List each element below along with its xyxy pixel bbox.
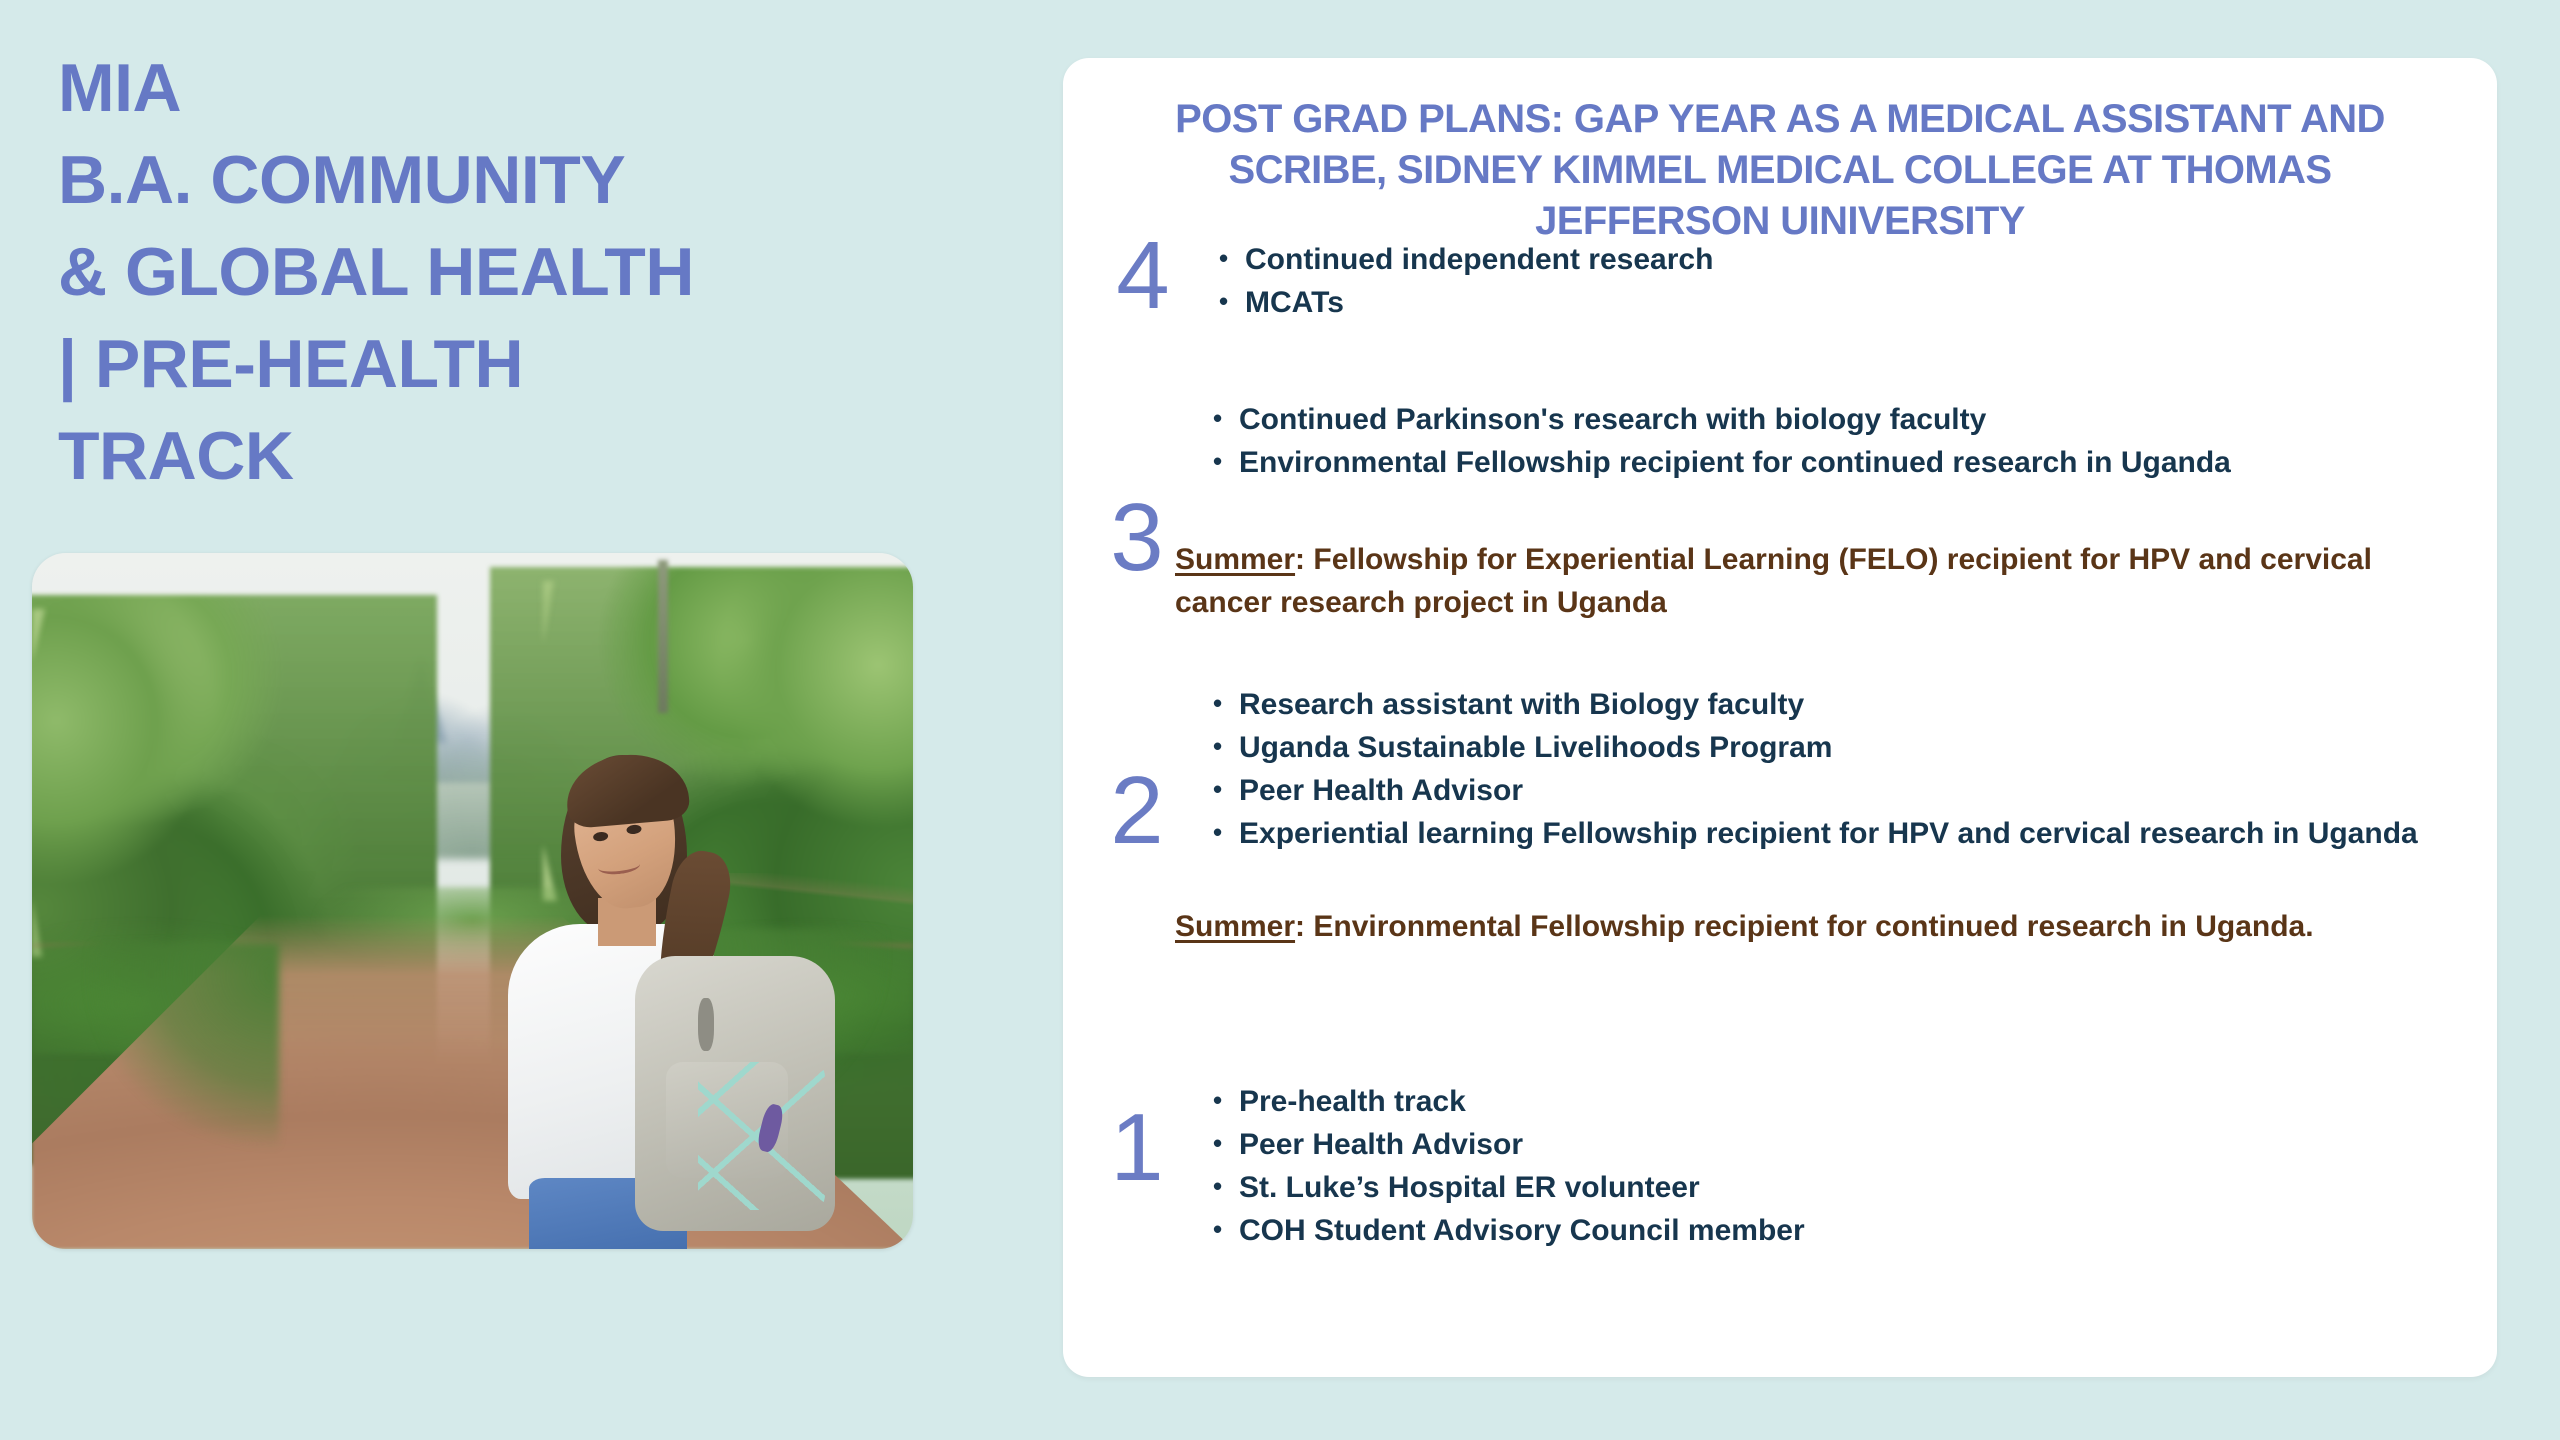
year-3-bullet-list: Continued Parkinson's research with biol…: [1209, 398, 2389, 484]
year-3-summer-note: Summer: Fellowship for Experiential Lear…: [1175, 538, 2445, 624]
year-number-1: 1: [1077, 1100, 1197, 1196]
student-heading: MIA B.A. COMMUNITY & GLOBAL HEALTH | PRE…: [58, 42, 998, 502]
left-column: MIA B.A. COMMUNITY & GLOBAL HEALTH | PRE…: [0, 0, 1040, 1440]
list-item: Pre-health track: [1209, 1080, 2389, 1123]
list-item: MCATs: [1215, 281, 2395, 324]
list-item: COH Student Advisory Council member: [1209, 1209, 2389, 1252]
year-number-2: 2: [1077, 763, 1197, 859]
subject-backpack-zipper: [698, 998, 714, 1051]
summer-label: Summer: [1175, 543, 1295, 576]
list-item: Peer Health Advisor: [1209, 1123, 2389, 1166]
year-2-bullet-list: Research assistant with Biology faculty …: [1209, 683, 2419, 855]
list-item: Peer Health Advisor: [1209, 769, 2419, 812]
summer-label: Summer: [1175, 910, 1295, 943]
year-1-bullet-list: Pre-health track Peer Health Advisor St.…: [1209, 1080, 2389, 1252]
list-item: Environmental Fellowship recipient for c…: [1209, 441, 2389, 484]
year-4-bullet-list: Continued independent research MCATs: [1215, 238, 2395, 324]
list-item: Experiential learning Fellowship recipie…: [1209, 812, 2419, 855]
year-2-summer-note: Summer: Environmental Fellowship recipie…: [1175, 905, 2445, 948]
year-number-4: 4: [1083, 228, 1203, 324]
photo-road-edge-left: [32, 943, 279, 1249]
subject-hair-top: [563, 750, 690, 829]
slide-canvas: MIA B.A. COMMUNITY & GLOBAL HEALTH | PRE…: [0, 0, 2560, 1440]
photo-subject-student: [402, 734, 913, 1249]
list-item: Uganda Sustainable Livelihoods Program: [1209, 726, 2419, 769]
list-item: Continued independent research: [1215, 238, 2395, 281]
list-item: Continued Parkinson's research with biol…: [1209, 398, 2389, 441]
list-item: St. Luke’s Hospital ER volunteer: [1209, 1166, 2389, 1209]
card-title: POST GRAD PLANS: GAP YEAR AS A MEDICAL A…: [1153, 94, 2407, 247]
summer-detail: : Environmental Fellowship recipient for…: [1295, 910, 2314, 943]
post-grad-plans-card: POST GRAD PLANS: GAP YEAR AS A MEDICAL A…: [1063, 58, 2497, 1377]
student-photo: [32, 553, 913, 1249]
summer-detail: : Fellowship for Experiential Learning (…: [1175, 543, 2372, 619]
list-item: Research assistant with Biology faculty: [1209, 683, 2419, 726]
photo-palm-trunk: [658, 560, 669, 713]
